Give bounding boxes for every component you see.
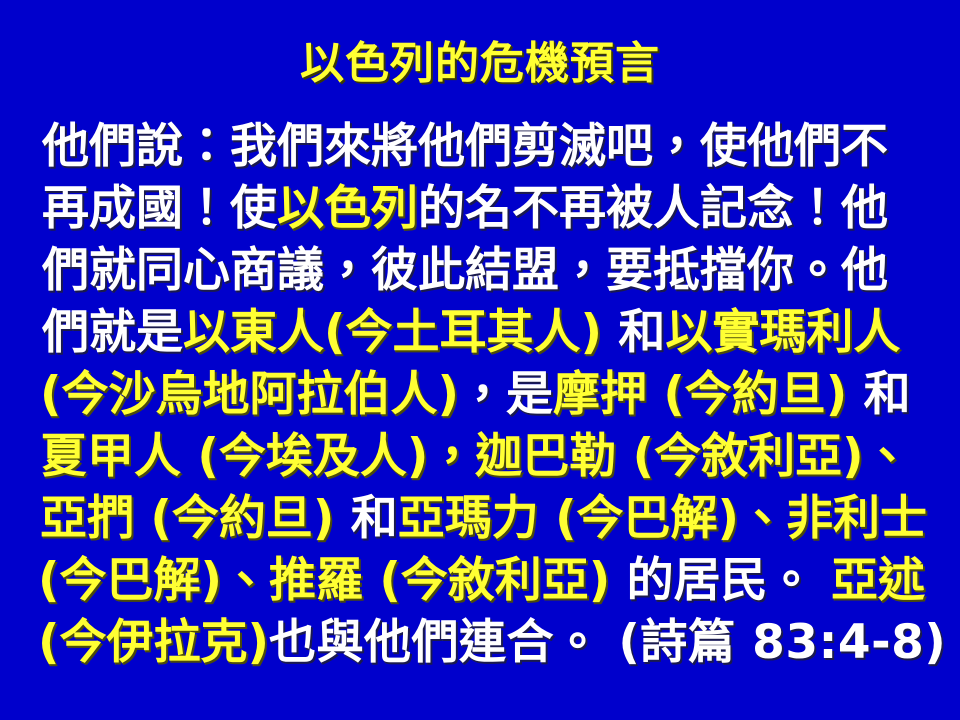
presentation-slide: 以色列的危機預言 他們說：我們來將他們剪滅吧，使他們不 再成國！使以色列的名不再…	[0, 0, 960, 720]
page-title: 以色列的危機預言	[0, 38, 960, 90]
verse-line-3: 們就同心商議，彼此結盟，要抵擋你。他	[34, 240, 930, 302]
verse-line-4: 們就是以東人(今土耳其人) 和以實瑪利人	[34, 302, 930, 364]
verse-line-6: 夏甲人 (今埃及人)，迦巴勒 (今敘利亞)、	[34, 426, 930, 488]
verse-segment: 的名不再被人記念！他	[418, 181, 888, 236]
verse-segment: 和	[334, 491, 397, 546]
verse-segment-highlight: 摩押 (今約旦)	[553, 367, 847, 422]
scripture-reference: 也與他們連合。 (詩篇 83:4-8)	[269, 615, 946, 670]
verse-line-7: 亞捫 (今約旦) 和亞瑪力 (今巴解)、非利士	[34, 488, 930, 550]
verse-segment: 們就是	[42, 305, 183, 360]
verse-segment-highlight: (今巴解)、推羅 (今敘利亞)	[38, 553, 610, 608]
verse-segment-highlight: 夏甲人 (今埃及人)，迦巴勒 (今敘利亞)、	[40, 429, 911, 484]
verse-segment-highlight: 亞述	[831, 553, 925, 608]
verse-segment-highlight: 以東人(今土耳其人)	[183, 305, 602, 360]
verse-line-9: (今伊拉克)也與他們連合。 (詩篇 83:4-8)	[34, 612, 930, 674]
verse-segment-highlight: (今沙烏地阿拉伯人)	[40, 367, 459, 422]
verse-line-1: 他們說：我們來將他們剪滅吧，使他們不	[34, 116, 930, 178]
verse-segment-highlight: 亞瑪力 (今巴解)、非利士	[398, 491, 927, 546]
verse-segment: 和	[847, 367, 910, 422]
verse-line-5: (今沙烏地阿拉伯人)，是摩押 (今約旦) 和	[34, 364, 930, 426]
verse-segment-highlight: (今伊拉克)	[38, 615, 269, 670]
verse-segment-highlight: 以色列	[277, 181, 418, 236]
scripture-body: 他們說：我們來將他們剪滅吧，使他們不 再成國！使以色列的名不再被人記念！他 們就…	[34, 116, 930, 674]
verse-segment: 和	[602, 305, 665, 360]
verse-segment-highlight: 亞捫 (今約旦)	[40, 491, 334, 546]
verse-segment: 他們說：我們來將他們剪滅吧，使他們不	[42, 119, 888, 174]
verse-segment: ，是	[459, 367, 553, 422]
verse-segment: 的居民。	[610, 553, 831, 608]
verse-segment: 們就同心商議，彼此結盟，要抵擋你。他	[42, 243, 888, 298]
verse-segment-highlight: 以實瑪利人	[665, 305, 900, 360]
verse-line-2: 再成國！使以色列的名不再被人記念！他	[34, 178, 930, 240]
verse-line-8: (今巴解)、推羅 (今敘利亞) 的居民。 亞述	[34, 550, 930, 612]
verse-segment: 再成國！使	[42, 181, 277, 236]
